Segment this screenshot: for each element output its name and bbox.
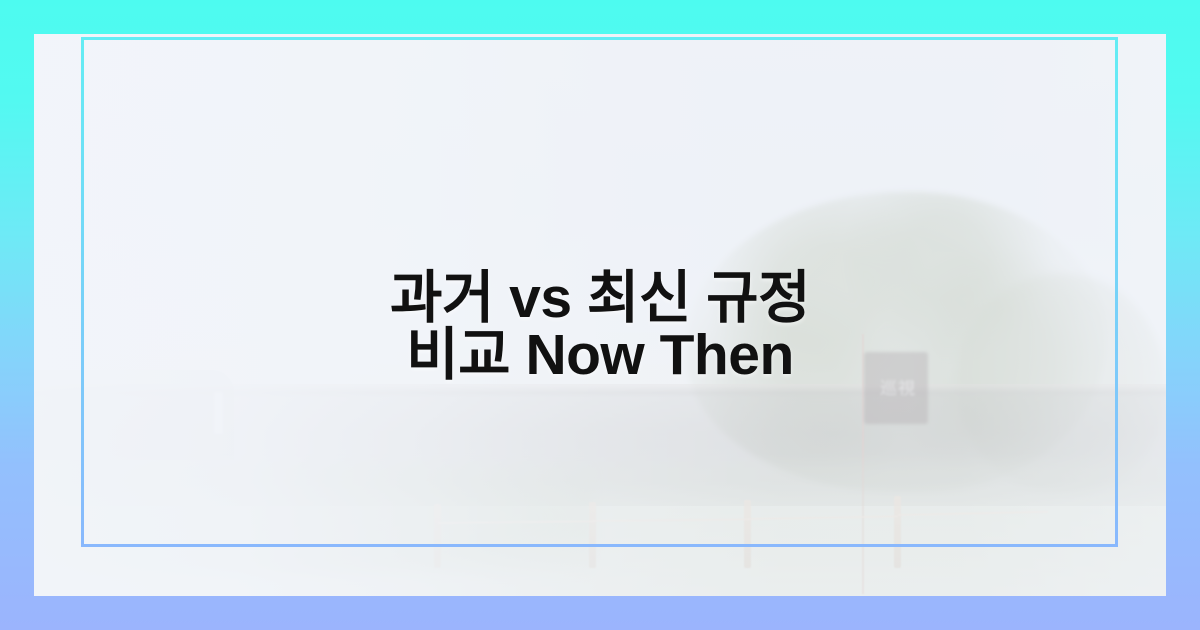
content-card: 巡視 과거 vs 최신 규정 비교 Now Then	[34, 34, 1166, 596]
thumbnail-canvas: 巡視 과거 vs 최신 규정 비교 Now Then	[0, 0, 1200, 630]
page-title: 과거 vs 최신 규정 비교 Now Then	[34, 270, 1166, 384]
